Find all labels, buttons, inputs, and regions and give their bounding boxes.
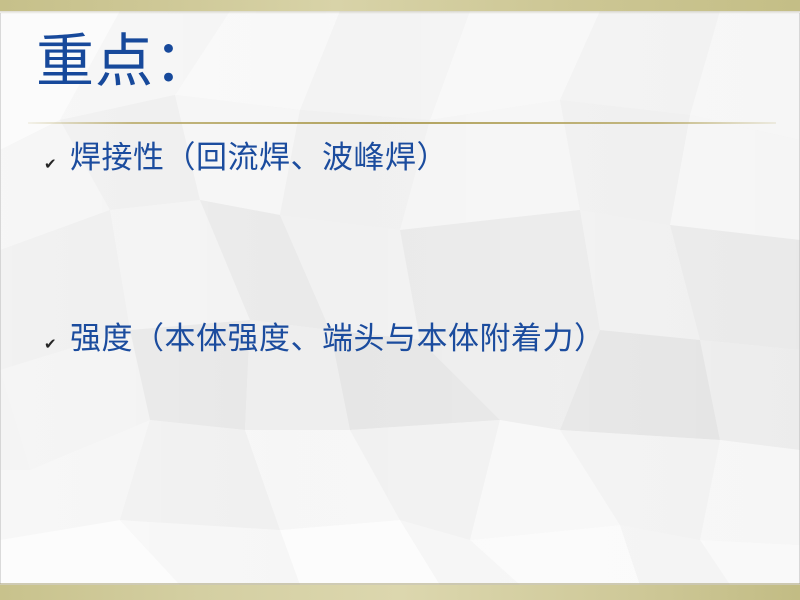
bottom-accent-band [0, 585, 800, 600]
checkmark-icon: ✔ [44, 145, 70, 172]
left-edge-line [0, 13, 1, 584]
list-item: ✔ 焊接性（回流焊、波峰焊） [44, 140, 774, 177]
list-item-label: 强度（本体强度、端头与本体附着力） [70, 321, 774, 358]
top-accent-band [0, 0, 800, 11]
presentation-slide: 重点： ✔ 焊接性（回流焊、波峰焊） ✔ 强度（本体强度、端头与本体附着力） [0, 0, 800, 600]
list-item: ✔ 强度（本体强度、端头与本体附着力） [44, 321, 774, 358]
bullet-list: ✔ 焊接性（回流焊、波峰焊） ✔ 强度（本体强度、端头与本体附着力） [44, 140, 774, 357]
slide-title: 重点： [36, 33, 213, 91]
title-divider-line [28, 122, 776, 124]
top-accent-band-shadow [0, 11, 800, 14]
checkmark-icon: ✔ [44, 325, 70, 352]
list-item-label: 焊接性（回流焊、波峰焊） [70, 140, 774, 177]
